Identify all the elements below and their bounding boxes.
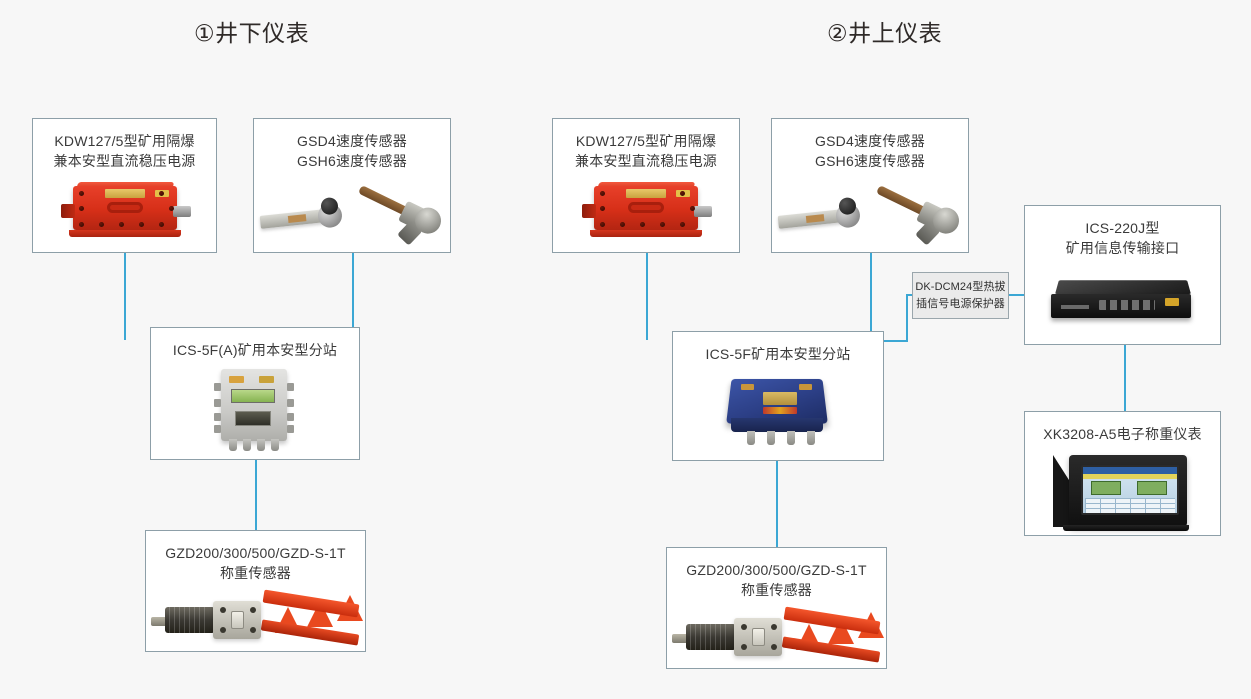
node-signal-power-protector[interactable]: DK-DCM24型热拔 插信号电源保护器 (912, 272, 1009, 319)
node-weighing-terminal[interactable]: XK3208-A5电子称重仪表 (1024, 411, 1221, 536)
wire-substation-to-protector-seg2 (906, 294, 908, 342)
node-right-speed-sensor[interactable]: GSD4速度传感器 GSH6速度传感器 (771, 118, 969, 253)
section-title-surface: ②井上仪表 (827, 14, 942, 48)
wire-interface-to-terminal (1124, 345, 1126, 411)
node-right-power-supply[interactable]: KDW127/5型矿用隔爆 兼本安型直流稳压电源 (552, 118, 740, 253)
wire-substation-to-protector-seg1 (884, 340, 908, 342)
node-weighing-terminal-caption: XK3208-A5电子称重仪表 (1043, 424, 1202, 444)
diagram-canvas: ①井下仪表 ②井上仪表 KDW127/5型矿用隔爆 兼本安型直流稳压电源 (0, 0, 1251, 699)
speed-sensors-icon (254, 172, 450, 252)
speed-sensors-icon (772, 172, 968, 252)
node-left-power-supply[interactable]: KDW127/5型矿用隔爆 兼本安型直流稳压电源 (32, 118, 217, 253)
load-cell-icon (667, 601, 886, 668)
node-right-substation-caption: ICS-5F矿用本安型分站 (706, 344, 851, 364)
node-left-power-supply-caption: KDW127/5型矿用隔爆 兼本安型直流稳压电源 (54, 131, 196, 172)
wire-left-psu-to-substation (124, 252, 126, 340)
weighing-terminal-icon (1025, 444, 1220, 535)
black-rack-interface-icon (1025, 259, 1220, 344)
section-title-underground: ①井下仪表 (194, 14, 309, 48)
node-right-power-supply-caption: KDW127/5型矿用隔爆 兼本安型直流稳压电源 (575, 131, 717, 172)
grey-substation-icon (151, 360, 359, 459)
node-left-speed-sensor-caption: GSD4速度传感器 GSH6速度传感器 (297, 131, 407, 172)
load-cell-icon (146, 584, 365, 651)
node-left-speed-sensor[interactable]: GSD4速度传感器 GSH6速度传感器 (253, 118, 451, 253)
node-information-transmission-interface-caption: ICS-220J型 矿用信息传输接口 (1066, 218, 1180, 259)
node-left-substation-caption: ICS-5F(A)矿用本安型分站 (173, 340, 337, 360)
node-left-load-cell-caption: GZD200/300/500/GZD-S-1T 称重传感器 (165, 543, 345, 584)
blue-substation-icon (673, 364, 883, 460)
wire-right-psu-to-substation (646, 252, 648, 340)
node-information-transmission-interface[interactable]: ICS-220J型 矿用信息传输接口 (1024, 205, 1221, 345)
red-power-supply-icon (553, 172, 739, 252)
wire-right-substation-to-loadcell (776, 461, 778, 547)
node-right-load-cell-caption: GZD200/300/500/GZD-S-1T 称重传感器 (686, 560, 866, 601)
wire-right-sensor-to-substation (870, 252, 872, 340)
node-left-substation[interactable]: ICS-5F(A)矿用本安型分站 (150, 327, 360, 460)
node-left-load-cell[interactable]: GZD200/300/500/GZD-S-1T 称重传感器 (145, 530, 366, 652)
node-right-substation[interactable]: ICS-5F矿用本安型分站 (672, 331, 884, 461)
red-power-supply-icon (33, 172, 216, 252)
node-signal-power-protector-caption: DK-DCM24型热拔 插信号电源保护器 (915, 279, 1005, 312)
wire-left-substation-to-loadcell (255, 460, 257, 530)
node-right-speed-sensor-caption: GSD4速度传感器 GSH6速度传感器 (815, 131, 925, 172)
node-right-load-cell[interactable]: GZD200/300/500/GZD-S-1T 称重传感器 (666, 547, 887, 669)
